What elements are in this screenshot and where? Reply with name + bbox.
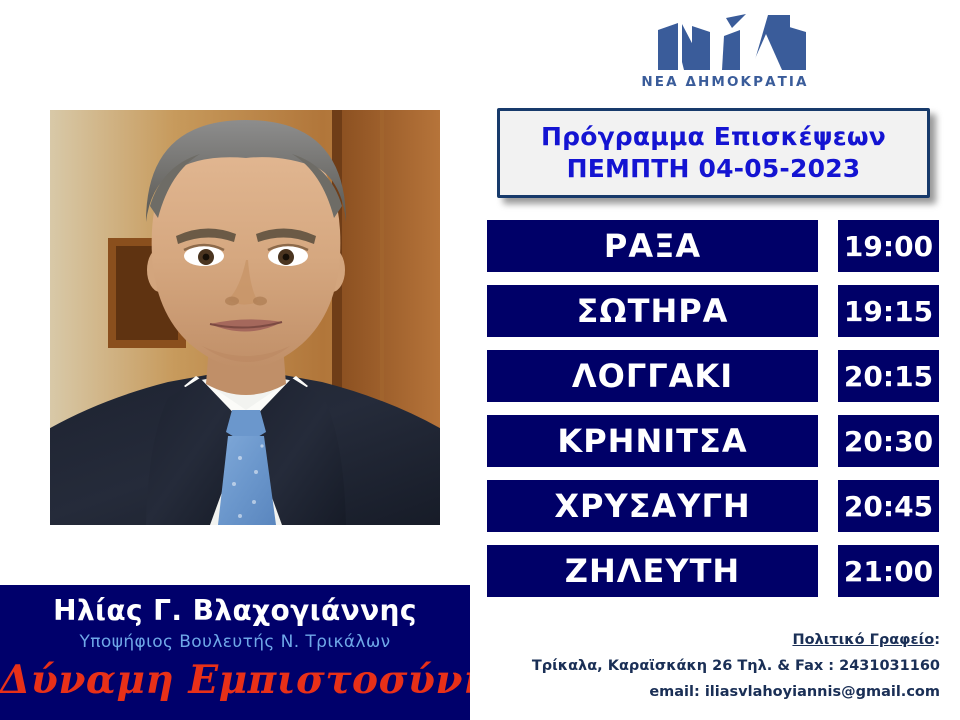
candidate-banner: Ηλίας Γ. Βλαχογιάννης Υποψήφιος Βουλευτή… (0, 585, 470, 720)
schedule-time-label: 21:00 (844, 555, 933, 588)
schedule-place-label: ΛΟΓΓΑΚΙ (572, 357, 733, 395)
program-title-line-2: ΠΕΜΠΤΗ 04-05-2023 (567, 153, 861, 185)
schedule-time-label: 19:00 (844, 230, 933, 263)
schedule-place-box[interactable]: ΧΡΥΣΑΥΓΗ (487, 480, 818, 532)
schedule-time-label: 20:30 (844, 425, 933, 458)
schedule-time-box[interactable]: 20:30 (838, 415, 939, 467)
schedule-row: ΣΩΤΗΡΑ 19:15 (487, 285, 939, 337)
schedule-place-box[interactable]: ΚΡΗΝΙΤΣΑ (487, 415, 818, 467)
schedule-row: ΚΡΗΝΙΤΣΑ 20:30 (487, 415, 939, 467)
schedule-place-label: ΡΑΞΑ (604, 227, 701, 265)
nea-dimokratia-logo-caption: ΝΕΑ ΔΗΜΟΚΡΑΤΙΑ (640, 74, 810, 90)
contact-office-line: Πολιτικό Γραφείο: (480, 628, 940, 654)
contact-address-line: Τρίκαλα, Καραϊσκάκη 26 Τηλ. & Fax : 2431… (480, 654, 940, 680)
schedule-place-label: ΣΩΤΗΡΑ (577, 292, 729, 330)
nea-dimokratia-logo: ΝΕΑ ΔΗΜΟΚΡΑΤΙΑ (640, 12, 810, 100)
candidate-portrait-photo (50, 110, 440, 525)
schedule-time-box[interactable]: 20:15 (838, 350, 939, 402)
candidate-slogan: Δύναμη Εμπιστοσύνης (0, 657, 470, 703)
contact-email-line[interactable]: email: iliasvlahoyiannis@gmail.com (480, 680, 940, 706)
visit-schedule-list: ΡΑΞΑ 19:00 ΣΩΤΗΡΑ 19:15 ΛΟΓΓΑΚΙ 20:15 ΚΡ… (487, 220, 939, 610)
nea-dimokratia-logo-mark (640, 12, 810, 74)
schedule-row: ΖΗΛΕΥΤΗ 21:00 (487, 545, 939, 597)
schedule-time-label: 20:45 (844, 490, 933, 523)
contact-office-colon: : (934, 632, 940, 648)
schedule-time-label: 19:15 (844, 295, 933, 328)
schedule-place-box[interactable]: ΣΩΤΗΡΑ (487, 285, 818, 337)
schedule-row: ΡΑΞΑ 19:00 (487, 220, 939, 272)
schedule-time-box[interactable]: 21:00 (838, 545, 939, 597)
schedule-place-box[interactable]: ΛΟΓΓΑΚΙ (487, 350, 818, 402)
schedule-place-label: ΖΗΛΕΥΤΗ (565, 552, 740, 590)
schedule-row: ΧΡΥΣΑΥΓΗ 20:45 (487, 480, 939, 532)
schedule-time-label: 20:15 (844, 360, 933, 393)
contact-info-block: Πολιτικό Γραφείο: Τρίκαλα, Καραϊσκάκη 26… (480, 628, 940, 705)
schedule-time-box[interactable]: 19:15 (838, 285, 939, 337)
candidate-name: Ηλίας Γ. Βλαχογιάννης (0, 594, 470, 627)
contact-office-label: Πολιτικό Γραφείο (792, 632, 934, 648)
schedule-place-label: ΧΡΥΣΑΥΓΗ (554, 487, 750, 525)
program-title-plate: Πρόγραμμα Επισκέψεων ΠΕΜΠΤΗ 04-05-2023 (497, 108, 930, 198)
candidate-role: Υποψήφιος Βουλευτής Ν. Τρικάλων (0, 632, 470, 652)
schedule-place-box[interactable]: ΖΗΛΕΥΤΗ (487, 545, 818, 597)
schedule-place-box[interactable]: ΡΑΞΑ (487, 220, 818, 272)
schedule-time-box[interactable]: 19:00 (838, 220, 939, 272)
program-title-line-1: Πρόγραμμα Επισκέψεων (541, 121, 886, 153)
schedule-row: ΛΟΓΓΑΚΙ 20:15 (487, 350, 939, 402)
schedule-time-box[interactable]: 20:45 (838, 480, 939, 532)
schedule-place-label: ΚΡΗΝΙΤΣΑ (557, 422, 747, 460)
